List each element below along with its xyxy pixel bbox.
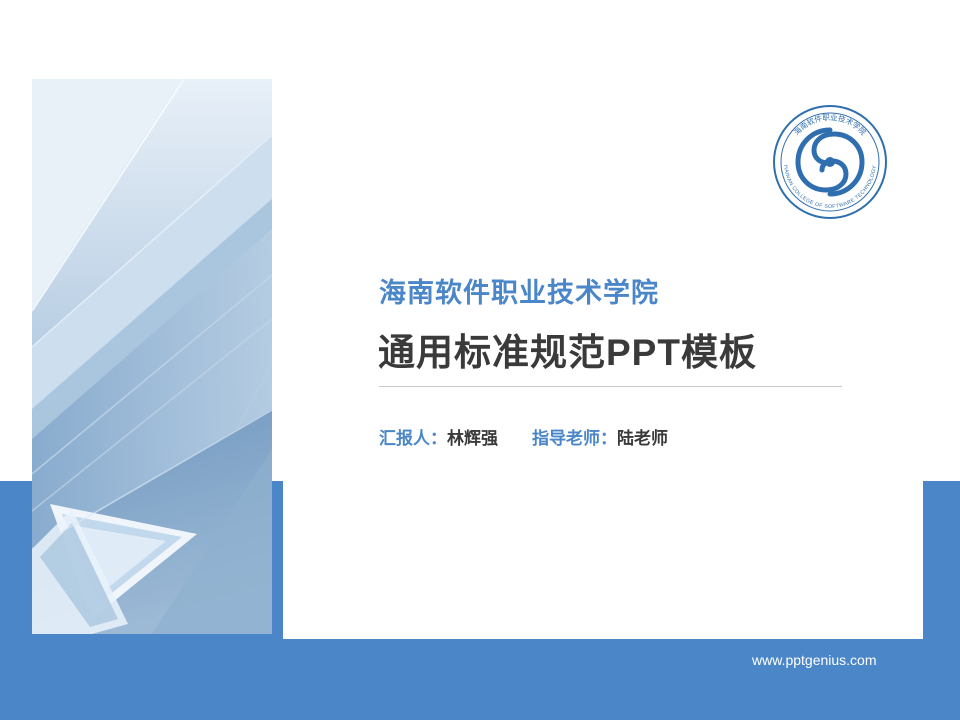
footer-url: www.pptgenius.com <box>752 652 877 668</box>
presenter-name: 林辉强 <box>447 424 498 449</box>
page-title: 通用标准规范PPT模板 <box>378 322 757 376</box>
slide-canvas: 海南软件职业技术学院 HAINAN COLLEGE OF SOFTWARE TE… <box>0 0 960 720</box>
advisor-label: 指导老师： <box>532 424 617 449</box>
architecture-photo <box>32 79 272 634</box>
advisor-name: 陆老师 <box>617 424 668 449</box>
school-name-text: 海南软件职业技术学院 <box>379 271 659 310</box>
presenter-label: 汇报人： <box>379 424 447 449</box>
school-logo-icon: 海南软件职业技术学院 HAINAN COLLEGE OF SOFTWARE TE… <box>768 100 892 224</box>
cover-photo-panel <box>32 79 272 634</box>
title-divider <box>379 386 842 387</box>
school-logo: 海南软件职业技术学院 HAINAN COLLEGE OF SOFTWARE TE… <box>768 100 892 224</box>
presenter-info-row: 汇报人： 林辉强 指导老师： 陆老师 <box>379 424 668 449</box>
